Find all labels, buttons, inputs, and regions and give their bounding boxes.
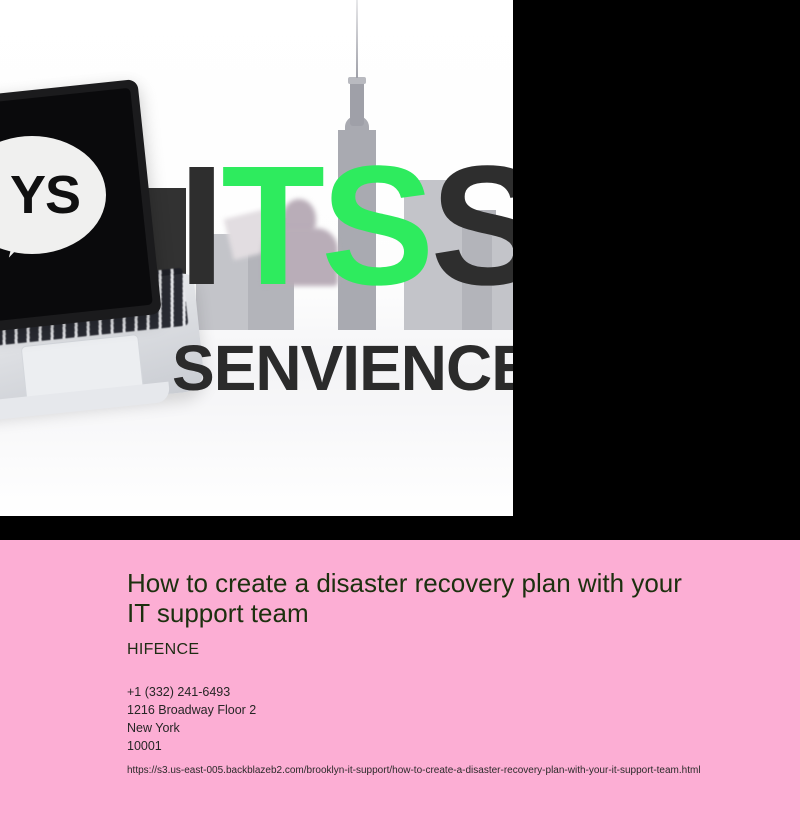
- hero-headline-part-3: S: [430, 131, 513, 321]
- contact-phone[interactable]: +1 (332) 241-6493: [127, 683, 770, 701]
- hero-headline-part-2: TS: [221, 131, 430, 321]
- tower-crown: [350, 80, 364, 126]
- brand-name: HIFENCE: [127, 641, 770, 659]
- page-title: How to create a disaster recovery plan w…: [127, 568, 707, 628]
- info-panel-content: How to create a disaster recovery plan w…: [0, 540, 800, 778]
- hero-headline-part-1: I: [178, 131, 221, 321]
- contact-city: New York: [127, 719, 770, 737]
- contact-zip: 10001: [127, 737, 770, 755]
- contact-street: 1216 Broadway Floor 2: [127, 701, 770, 719]
- page-root: YS ITSS SENVIENCE How to create a disast…: [0, 0, 800, 840]
- info-panel: How to create a disaster recovery plan w…: [0, 540, 800, 840]
- contact-block: +1 (332) 241-6493 1216 Broadway Floor 2 …: [127, 683, 770, 755]
- speech-bubble-text: YS: [10, 164, 80, 226]
- hero-subheadline: SENVIENCE: [172, 336, 513, 400]
- hero-headline: ITSS: [178, 141, 513, 311]
- hero-image: YS ITSS SENVIENCE: [0, 0, 513, 516]
- tower-cap: [348, 77, 366, 84]
- tower-antenna: [356, 0, 358, 78]
- source-url[interactable]: https://s3.us-east-005.backblazeb2.com/b…: [127, 764, 770, 778]
